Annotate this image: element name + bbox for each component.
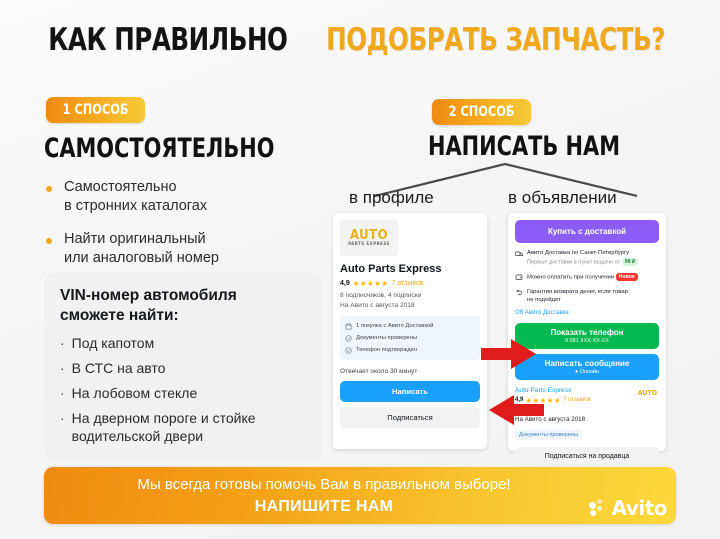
delivery-label: Можно оплатить при получении Новое — [527, 273, 638, 282]
return-arrow-icon — [515, 288, 523, 296]
list-item: Самостоятельно в стронних каталогах — [46, 178, 331, 216]
seller-reviews-link[interactable]: 7 отзывов — [563, 397, 591, 403]
page-title: КАК ПРАВИЛЬНО ПОДОБРАТЬ ЗАПЧАСТЬ? — [0, 22, 720, 58]
bullet-dash-icon: · — [60, 384, 65, 402]
arrow-left-icon-profile — [488, 394, 544, 426]
new-pill: Новое — [616, 273, 638, 281]
wallet-icon — [515, 273, 523, 281]
vin-item-text: На дверном пороге и стойке водительской … — [72, 409, 256, 445]
vin-info-box: VIN-номер автомобиля сможете найти: · По… — [44, 272, 322, 461]
auto-parts-logo: AUTO PARTS EXPRESS — [348, 229, 390, 247]
bullet-dot-icon — [46, 186, 52, 192]
trust-row: Телефон подтвержден — [345, 344, 475, 356]
badge-way-two: 2 СПОСОБ — [432, 99, 531, 125]
badge-way-one: 1 СПОСОБ — [46, 97, 145, 123]
vin-box-title: VIN-номер автомобиля сможете найти: — [60, 286, 306, 326]
bullet-text: Самостоятельно в стронних каталогах — [64, 178, 207, 216]
seller-logo: AUTO — [638, 389, 657, 397]
badge-way-one-label: 1 СПОСОБ — [63, 97, 129, 123]
delivery-row: Можно оплатить при получении Новое — [515, 273, 659, 282]
answer-time-text: Отвечает около 30 минут — [340, 368, 480, 375]
logo-line-2: PARTS EXPRESS — [348, 243, 390, 247]
trust-badges-box: 1 покупка с Авито Доставкой Документы пр… — [340, 316, 480, 360]
sub-label-profile: в профиле — [349, 188, 434, 208]
member-since-text: На Авито с августа 2018 — [340, 301, 480, 311]
delivery-label: Авито Доставка по Санкт-Петербургу — [527, 249, 638, 257]
title-part-dark: КАК ПРАВИЛЬНО — [48, 22, 287, 58]
avito-dots-icon — [589, 499, 609, 517]
rating-value: 4,9 — [340, 280, 350, 287]
list-item: · Под капотом — [60, 334, 306, 352]
subscribe-button[interactable]: Подписаться — [340, 407, 480, 428]
way-one-title: САМОСТОЯТЕЛЬНО — [44, 133, 312, 164]
way-two-title: НАПИСАТЬ НАМ — [428, 131, 651, 162]
delivery-label: Гарантия возврата денег, если товар не п… — [527, 288, 628, 304]
trust-label: Документы проверены — [356, 335, 417, 341]
list-item: · На лобовом стекле — [60, 384, 306, 402]
title-part-gold: ПОДОБРАТЬ ЗАПЧАСТЬ? — [326, 22, 665, 58]
trust-row: 1 покупка с Авито Доставкой — [345, 320, 475, 332]
subscribe-seller-button[interactable]: Подписаться на продавца — [515, 447, 659, 466]
trust-label: Телефон подтвержден — [356, 347, 417, 353]
check-circle-icon — [345, 335, 352, 342]
way-one-bullet-list: Самостоятельно в стронних каталогах Найт… — [46, 178, 331, 282]
delivery-box-icon — [345, 323, 352, 330]
bullet-dot-icon — [46, 238, 52, 244]
send-message-label: Написать сообщение — [545, 359, 630, 368]
trust-row: Документы проверены — [345, 332, 475, 344]
about-delivery-link[interactable]: Об Авито Доставке — [515, 310, 659, 316]
way-two-title-text: НАПИСАТЬ НАМ — [428, 131, 620, 162]
show-phone-label: Показать телефон — [551, 328, 624, 337]
followers-text: 8 подписчиков, 4 подписки — [340, 291, 480, 301]
reviews-link[interactable]: 7 отзывов — [391, 280, 423, 287]
vin-item-text: Под капотом — [72, 334, 155, 352]
bottom-banner: Мы всегда готовы помочь Вам в правильном… — [44, 467, 676, 524]
delivery-sub: Первые доставки в пункт выдачи от 99 ₽ — [527, 258, 638, 266]
vin-item-text: На лобовом стекле — [72, 384, 198, 402]
truck-icon — [515, 250, 523, 258]
delivery-row: Гарантия возврата денег, если товар не п… — [515, 288, 659, 304]
rating-row: 4,9 ★★★★★ 7 отзывов — [340, 279, 480, 288]
delivery-row: Авито Доставка по Санкт-Петербургу Первы… — [515, 249, 659, 267]
buy-with-delivery-button[interactable]: Купить с доставкой — [515, 220, 659, 243]
price-pill: 99 ₽ — [622, 258, 639, 266]
avito-wordmark: Avito — [612, 498, 667, 518]
way-one-title-text: САМОСТОЯТЕЛЬНО — [44, 133, 275, 164]
banner-line-2: НАПИШИТЕ НАМ — [44, 498, 604, 516]
sub-label-listing: в объявлении — [508, 188, 617, 208]
delivery-label-text: Можно оплатить при получении — [527, 274, 614, 280]
bullet-dash-icon: · — [60, 359, 65, 377]
banner-line-1: Мы всегда готовы помочь Вам в правильном… — [44, 476, 604, 493]
check-circle-icon — [345, 347, 352, 354]
badge-way-two-label: 2 СПОСОБ — [449, 99, 515, 125]
shop-name: Auto Parts Express — [340, 263, 480, 275]
bullet-text: Найти оригинальный или аналоговый номер — [64, 230, 219, 268]
vin-item-text: В СТС на авто — [72, 359, 166, 377]
arrow-right-icon-listing — [481, 338, 537, 370]
documents-verified-chip: Документы проверены — [515, 430, 582, 440]
list-item: · В СТС на авто — [60, 359, 306, 377]
logo-line-1: AUTO — [348, 229, 390, 242]
avito-logo: Avito — [589, 498, 667, 518]
shop-logo-tile: AUTO PARTS EXPRESS — [340, 220, 398, 256]
write-button[interactable]: Написать — [340, 381, 480, 402]
profile-card: AUTO PARTS EXPRESS Auto Parts Express 4,… — [333, 213, 487, 449]
bullet-dash-icon: · — [60, 334, 65, 352]
trust-label: 1 покупка с Авито Доставкой — [356, 323, 434, 329]
delivery-sub-text: Первые доставки в пункт выдачи от — [527, 260, 620, 266]
bullet-dash-icon: · — [60, 409, 65, 427]
list-item: · На дверном пороге и стойке водительско… — [60, 409, 306, 445]
stars-icon: ★★★★★ — [353, 279, 389, 288]
poster-canvas: КАК ПРАВИЛЬНО ПОДОБРАТЬ ЗАПЧАСТЬ? 1 СПОС… — [0, 0, 720, 539]
list-item: Найти оригинальный или аналоговый номер — [46, 230, 331, 268]
